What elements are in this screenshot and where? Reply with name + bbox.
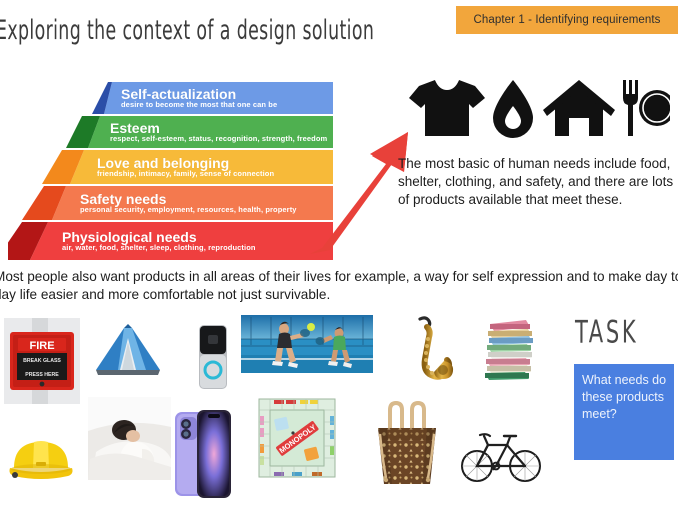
product-safety-helmet[interactable] bbox=[8, 428, 74, 484]
video-doorbell-image bbox=[196, 324, 230, 390]
water-drop-icon bbox=[493, 80, 533, 138]
pyramid-tier-love-and-belonging: Love and belonging friendship, intimacy,… bbox=[8, 150, 333, 184]
product-bicycle[interactable] bbox=[460, 425, 542, 485]
tier-label-group: Physiological needs air, water, food, sh… bbox=[58, 230, 256, 253]
product-video-doorbell[interactable] bbox=[196, 324, 230, 390]
page-title: Exploring the context of a design soluti… bbox=[0, 15, 419, 45]
pyramid-tier-safety-needs: Safety needs personal security, employme… bbox=[8, 186, 333, 220]
product-designer-handbag[interactable] bbox=[370, 398, 444, 492]
camping-tent-image bbox=[88, 322, 166, 380]
tier-label-group: Self-actualization desire to become the … bbox=[117, 87, 277, 110]
product-smartphone[interactable] bbox=[173, 408, 233, 500]
house-icon bbox=[543, 80, 615, 136]
tier-subtitle: friendship, intimacy, family, sense of c… bbox=[97, 170, 274, 178]
product-person-sleeping[interactable] bbox=[88, 397, 171, 480]
product-stack-of-books[interactable] bbox=[476, 318, 538, 382]
task-question-box: What needs do these products meet? bbox=[574, 364, 674, 460]
tier-label-group: Safety needs personal security, employme… bbox=[76, 192, 297, 215]
fire-alarm-bottom-text: PRESS HERE bbox=[25, 372, 59, 378]
tier-label-group: Love and belonging friendship, intimacy,… bbox=[93, 156, 274, 179]
basic-needs-paragraph: The most basic of human needs include fo… bbox=[398, 155, 678, 209]
stack-of-books-image bbox=[476, 318, 538, 382]
middle-paragraph: Most people also want products in all ar… bbox=[0, 268, 678, 304]
product-saxophone[interactable] bbox=[410, 315, 458, 397]
slide-canvas: Exploring the context of a design soluti… bbox=[0, 0, 678, 509]
pyramid-tier-esteem: Esteem respect, self-esteem, status, rec… bbox=[8, 116, 333, 148]
monopoly-board-game-image: MONOPOLY bbox=[256, 396, 338, 480]
tier-title: Physiological needs bbox=[62, 230, 256, 245]
pyramid-tier-self-actualization: Self-actualization desire to become the … bbox=[8, 82, 333, 114]
person-sleeping-image bbox=[88, 397, 171, 480]
fire-alarm-mid-text: BREAK GLASS bbox=[23, 358, 61, 364]
tier-subtitle: air, water, food, shelter, sleep, clothi… bbox=[62, 244, 256, 252]
tier-title: Love and belonging bbox=[97, 156, 274, 171]
tier-title: Safety needs bbox=[80, 192, 297, 207]
saxophone-image bbox=[410, 315, 458, 397]
padel-tennis-players-image bbox=[241, 315, 373, 373]
maslow-pyramid: Self-actualization desire to become the … bbox=[8, 82, 333, 260]
tier-title: Esteem bbox=[110, 121, 327, 136]
chapter-banner: Chapter 1 - Identifying requirements bbox=[456, 6, 678, 34]
basic-needs-icon-row bbox=[395, 78, 670, 140]
fire-alarm-top-text: FIRE bbox=[29, 340, 54, 352]
tshirt-icon bbox=[409, 78, 485, 136]
tier-subtitle: respect, self-esteem, status, recognitio… bbox=[110, 135, 327, 143]
tier-subtitle: desire to become the most that one can b… bbox=[121, 101, 277, 109]
product-fire-alarm-call-point[interactable]: FIRE BREAK GLASS PRESS HERE bbox=[4, 318, 80, 404]
product-monopoly-board-game[interactable]: MONOPOLY bbox=[256, 396, 338, 480]
fire-alarm-call-point-image: FIRE BREAK GLASS PRESS HERE bbox=[4, 318, 80, 404]
designer-handbag-image bbox=[370, 398, 444, 492]
tier-subtitle: personal security, employment, resources… bbox=[80, 206, 297, 214]
task-heading: TASK bbox=[575, 315, 638, 351]
task-question-text: What needs do these products meet? bbox=[582, 373, 666, 421]
tier-label-group: Esteem respect, self-esteem, status, rec… bbox=[106, 121, 327, 144]
safety-helmet-image bbox=[8, 428, 74, 484]
smartphone-image bbox=[173, 408, 233, 500]
chapter-banner-label: Chapter 1 - Identifying requirements bbox=[473, 14, 660, 26]
cutlery-plate-icon bbox=[623, 80, 670, 136]
face bbox=[126, 430, 140, 442]
product-padel-tennis-players[interactable] bbox=[241, 315, 373, 373]
pyramid-tier-physiological-needs: Physiological needs air, water, food, sh… bbox=[8, 222, 333, 260]
bicycle-image bbox=[460, 425, 542, 485]
product-camping-tent[interactable] bbox=[88, 322, 166, 380]
tier-title: Self-actualization bbox=[121, 87, 277, 102]
